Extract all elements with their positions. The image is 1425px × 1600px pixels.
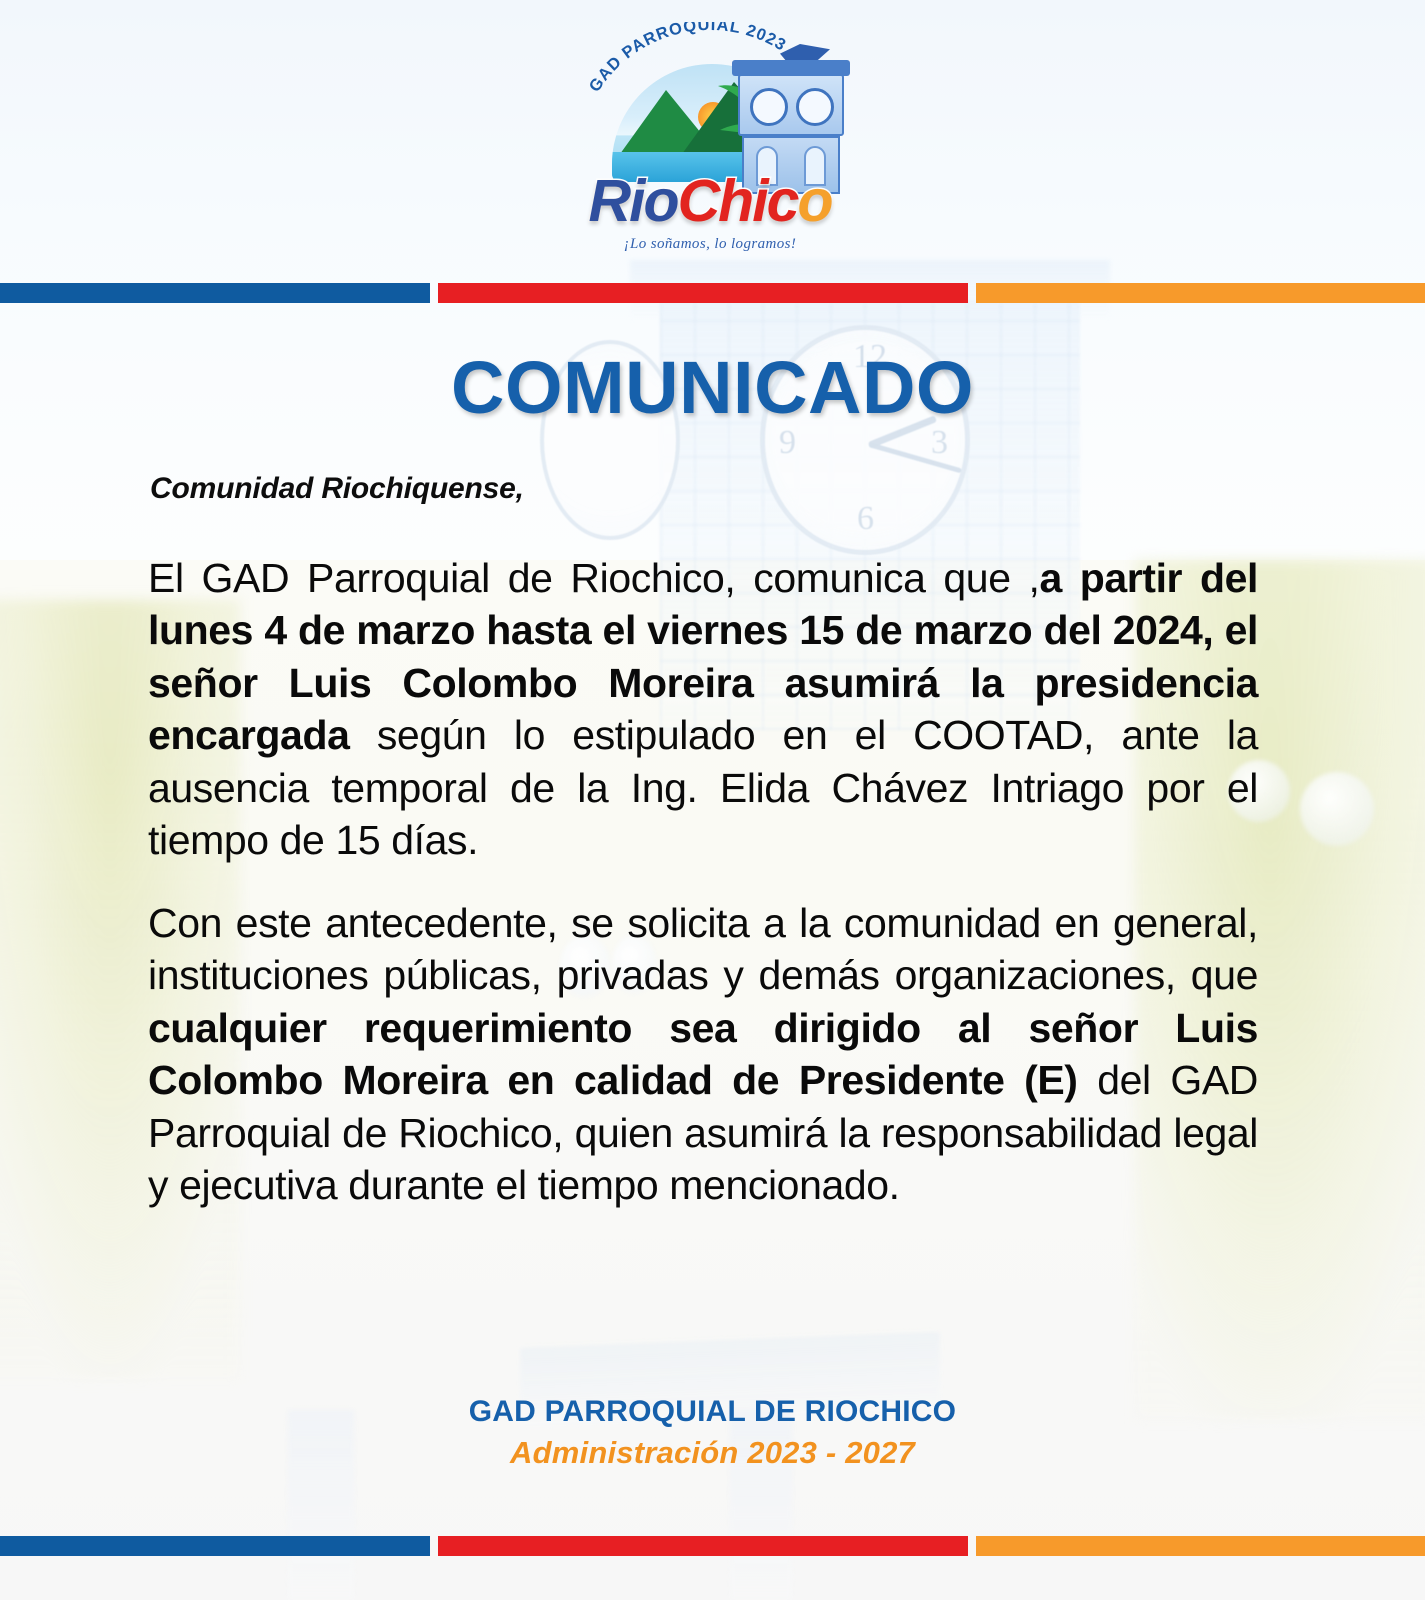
p2-lead: Con este antecedente, se solicita a la c…: [148, 900, 1258, 998]
tower-clock-housing: [738, 74, 844, 136]
rule-segment-red: [438, 1536, 968, 1556]
logo-word-rio: Rio: [589, 168, 678, 234]
paragraph-two: Con este antecedente, se solicita a la c…: [148, 897, 1258, 1212]
rule-segment-blue: [0, 283, 430, 303]
background-lamp-globe: [1300, 772, 1374, 846]
footer-organization: GAD PARROQUIAL DE RIOCHICO: [0, 1395, 1425, 1429]
clock-minute-hand: [868, 442, 962, 473]
rule-segment-gap: [968, 1536, 976, 1556]
logo-word-ch: Ch: [678, 168, 753, 234]
logo-wordmark: RioChico: [568, 172, 852, 231]
salutation: Comunidad Riochiquense,: [150, 472, 524, 506]
paragraph-one: El GAD Parroquial de Riochico, comunica …: [148, 552, 1258, 867]
divider-rule-bottom: [0, 1536, 1425, 1556]
rule-segment-orange: [976, 1536, 1425, 1556]
logo-clock-face: [796, 88, 834, 126]
rule-segment-red: [438, 283, 968, 303]
rule-segment-blue: [0, 1536, 430, 1556]
footer: GAD PARROQUIAL DE RIOCHICO Administració…: [0, 1395, 1425, 1471]
logo-slogan: ¡Lo soñamos, lo logramos!: [568, 236, 852, 253]
riochico-logo: GAD PARROQUIAL 2023 - 2027: [560, 22, 860, 272]
rule-segment-orange: [976, 283, 1425, 303]
communique-poster: 12 3 6 9 GAD PARROQUIAL 2023 - 2027: [0, 0, 1425, 1600]
clock-numeral-6: 6: [857, 500, 874, 538]
divider-rule-top: [0, 283, 1425, 303]
footer-administration: Administración 2023 - 2027: [0, 1435, 1425, 1471]
logo-clock-face: [750, 88, 788, 126]
rule-segment-gap: [968, 283, 976, 303]
rule-segment-gap: [430, 1536, 438, 1556]
logo-word-ic: ic: [752, 168, 797, 234]
page-title: COMUNICADO: [0, 345, 1425, 430]
announcement-body: El GAD Parroquial de Riochico, comunica …: [148, 552, 1258, 1212]
p1-lead: El GAD Parroquial de Riochico, comunica …: [148, 555, 1039, 601]
rule-segment-gap: [430, 283, 438, 303]
logo-word-o: o: [797, 168, 831, 234]
